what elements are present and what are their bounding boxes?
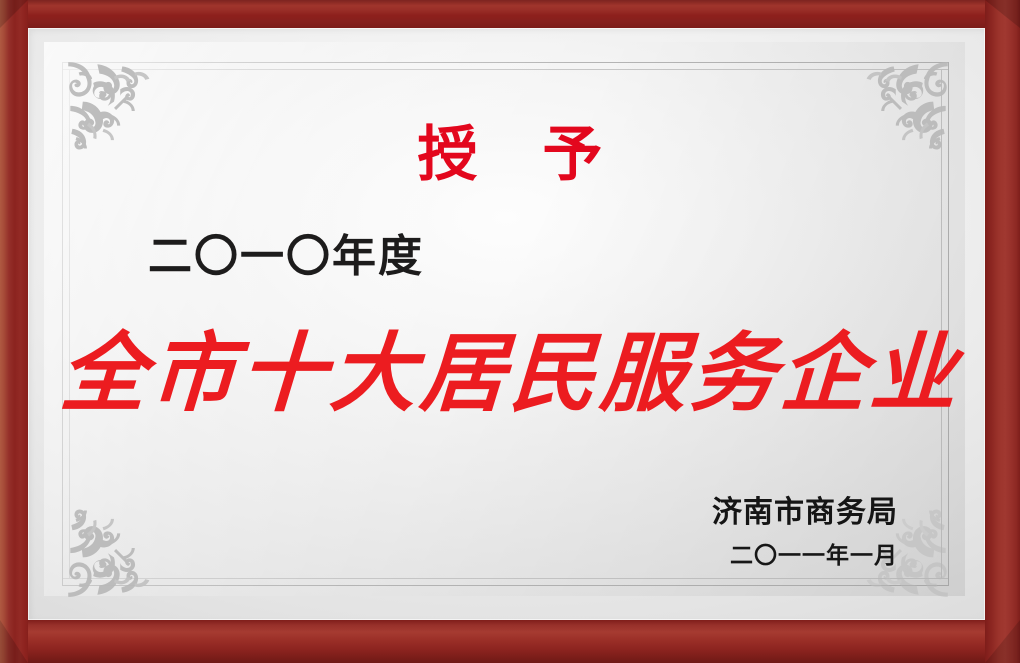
inner-rule-top-inner [62, 69, 949, 70]
inner-rule-top-outer [62, 62, 949, 63]
award-plaque: 授 予 二〇一〇年度 全市十大居民服务企业 济南市商务局 二〇一一年一月 [0, 0, 1020, 663]
corner-flourish-icon [62, 497, 166, 601]
award-title-text: 全市十大居民服务企业 [0, 330, 1020, 418]
inner-rule-bottom-outer [62, 585, 949, 586]
frame-mitre-bottom-left [0, 620, 28, 663]
frame-mitre-top-left [0, 0, 28, 28]
issue-date-text: 二〇一一年一月 [730, 545, 898, 568]
frame-mitre-bottom-right [985, 620, 1020, 663]
award-verb-text: 授 予 [0, 125, 1020, 185]
issuer-name-text: 济南市商务局 [712, 498, 898, 528]
frame-rail-top [0, 0, 1020, 28]
inner-rule-bottom-inner [62, 578, 949, 579]
frame-rail-bottom [0, 620, 1020, 663]
frame-mitre-top-right [985, 0, 1020, 28]
award-year-text: 二〇一〇年度 [148, 235, 424, 279]
